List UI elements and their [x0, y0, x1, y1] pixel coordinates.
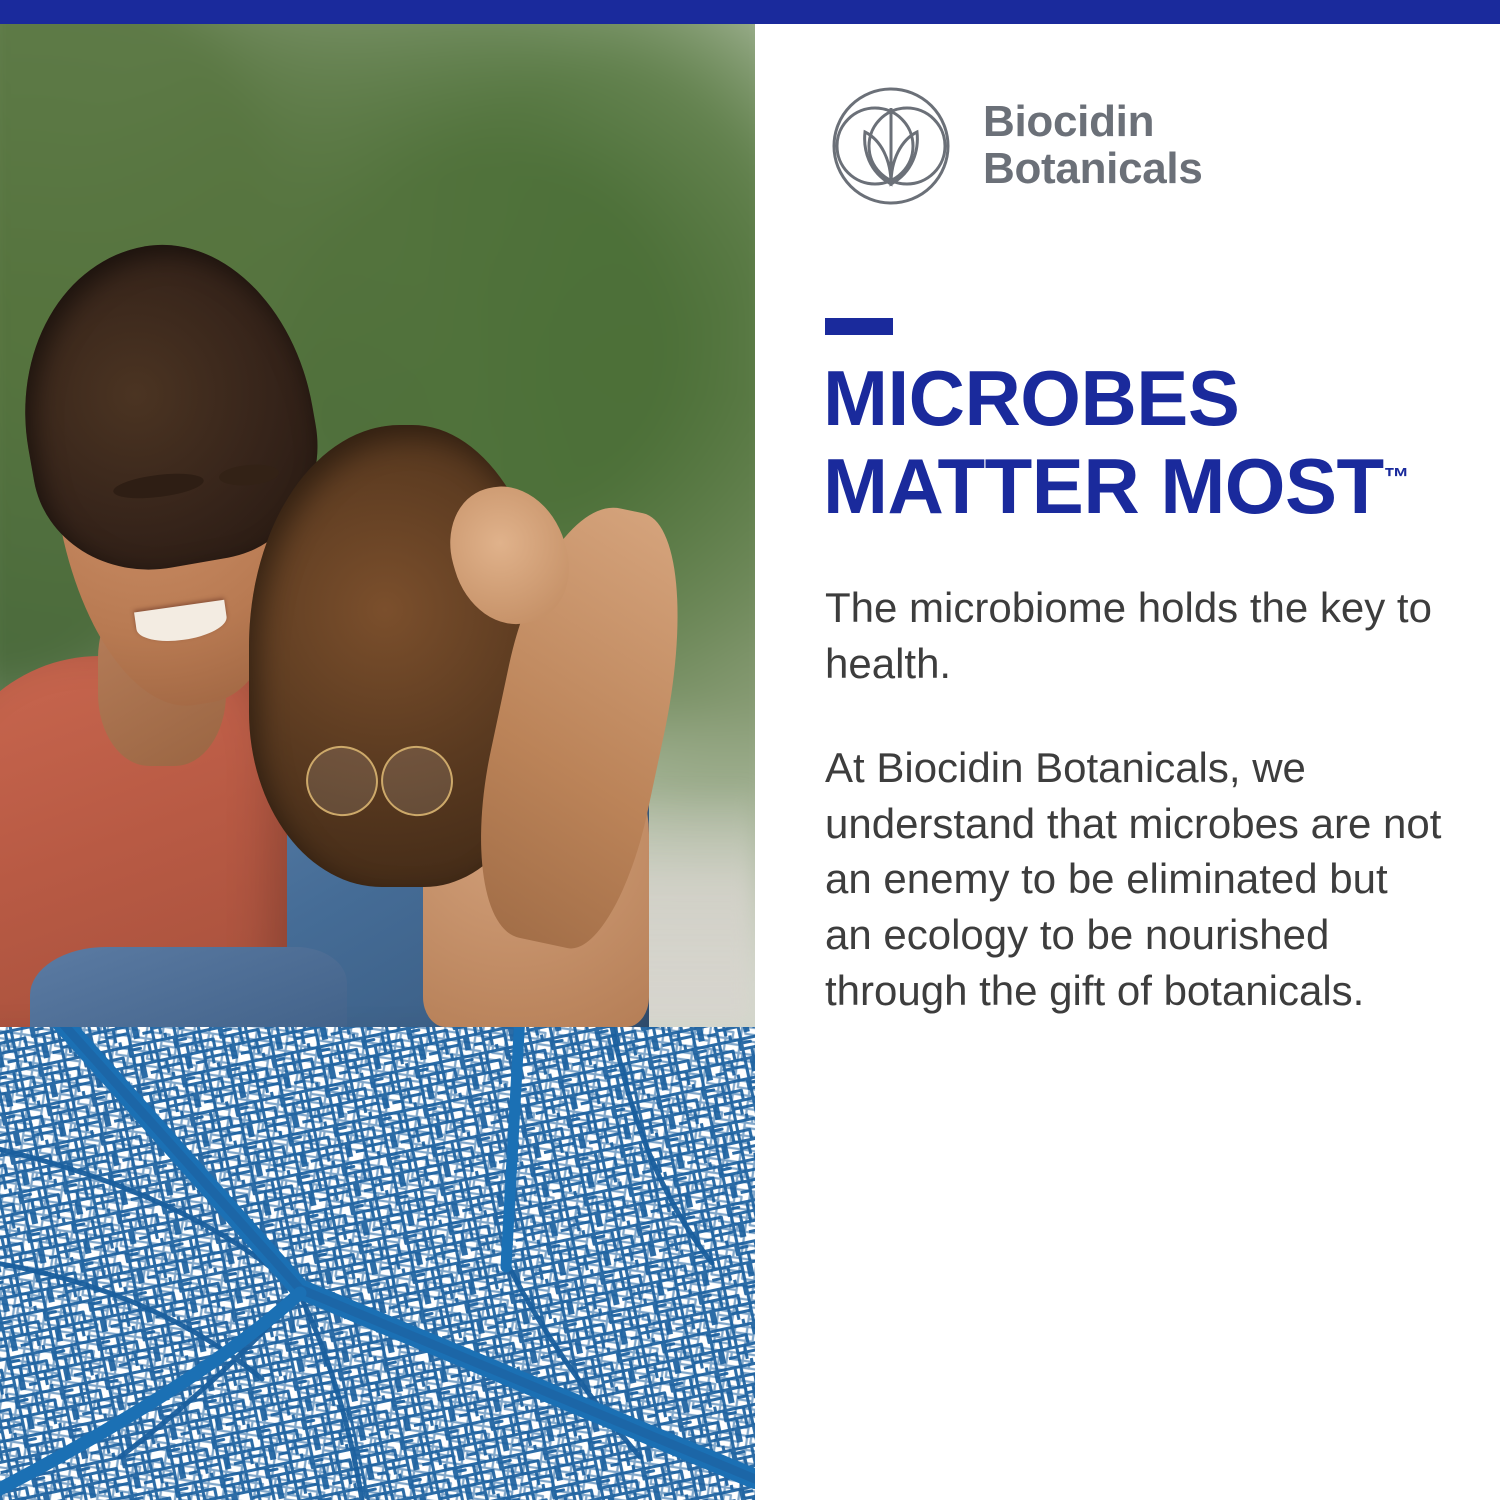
paragraph-1: The microbiome holds the key to health.: [825, 580, 1445, 692]
jeans: [30, 947, 347, 1027]
brand-name: Biocidin Botanicals: [983, 99, 1203, 192]
couple-photo: [0, 24, 755, 1027]
headline-line-1: MICROBES: [823, 354, 1239, 442]
page-title: MICROBES MATTER MOST™: [823, 354, 1500, 530]
headline-line-2: MATTER MOST: [823, 442, 1384, 530]
body-copy: The microbiome holds the key to health. …: [825, 580, 1445, 1019]
leaf-skeleton-image: [0, 1027, 755, 1500]
content-column: Biocidin Botanicals MICROBES MATTER MOST…: [755, 24, 1500, 1500]
media-column: [0, 24, 755, 1500]
top-accent-bar: [0, 0, 1500, 24]
paragraph-2: At Biocidin Botanicals, we understand th…: [825, 740, 1445, 1019]
brand-lockup: Biocidin Botanicals: [825, 80, 1203, 212]
marketing-banner: Biocidin Botanicals MICROBES MATTER MOST…: [0, 0, 1500, 1500]
trademark-symbol: ™: [1384, 462, 1410, 492]
accent-dash: [825, 318, 893, 335]
biocidin-logo-icon: [825, 80, 957, 212]
